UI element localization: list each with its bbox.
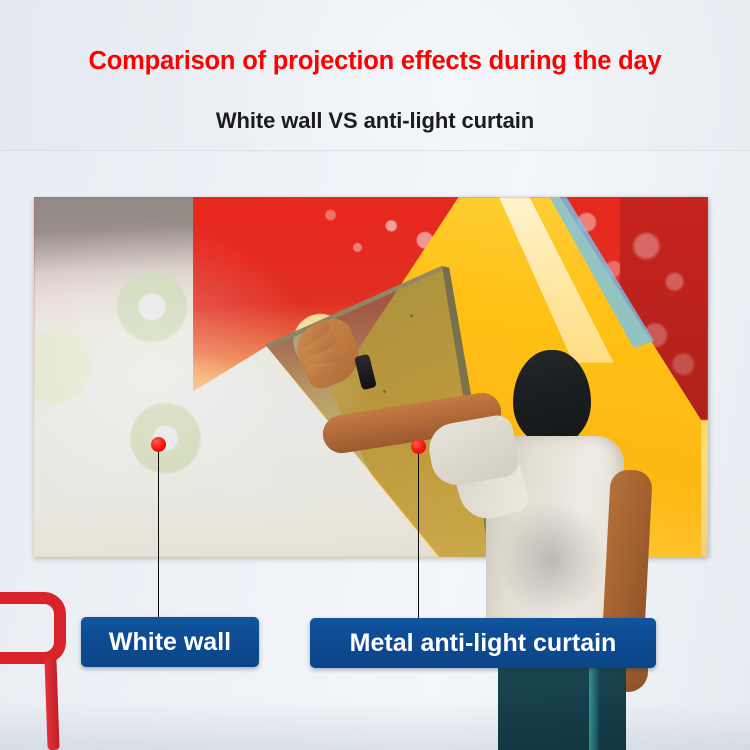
red-chair: [0, 592, 94, 750]
chair-leg-right: [44, 658, 59, 750]
label-metal-anti-light-curtain: Metal anti-light curtain: [310, 618, 656, 668]
callout-leader-white-wall: [158, 449, 160, 621]
wristband: [354, 354, 377, 391]
callout-dot-white-wall: [151, 437, 166, 452]
chair-backrest: [0, 592, 66, 664]
callout-leader-metal-curtain: [418, 451, 420, 621]
label-white-wall: White wall: [81, 617, 259, 667]
head: [513, 350, 591, 444]
screenshot-root: Comparison of projection effects during …: [0, 0, 750, 750]
callout-dot-metal-curtain: [411, 439, 426, 454]
